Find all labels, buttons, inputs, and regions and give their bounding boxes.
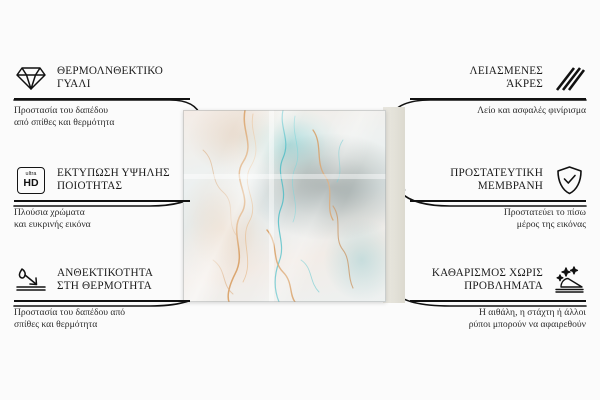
feature-title-line: ΠΡΟΣΤΑΤΕΥΤΙΚΗ: [450, 167, 543, 181]
infographic-canvas: ΘΕΡΜΟΛΝΘΕΚΤΙΚΟ ΓΥΑΛΙ Προστασία του δαπέδ…: [0, 0, 600, 400]
product-image: [183, 110, 398, 302]
feature-title-line: ΛΕΙΑΣΜΕΝΕΣ: [470, 65, 543, 79]
easy-cleaning-sparkle-icon: [552, 265, 586, 295]
feature-easy-cleaning: ΚΑΘΑΡΙΣΜΟΣ ΧΩΡΙΣ ΠΡΟΒΛΗΜΑΤΑ Η αιθάλη, η …: [410, 264, 586, 331]
feature-title-line: ΘΕΡΜΟΛΝΘΕΚΤΙΚΟ: [57, 65, 163, 79]
feature-description-line: Προστατεύει το πίσω: [410, 207, 586, 219]
product-side-face: [383, 107, 405, 303]
feature-description-line: Λείο και ασφαλές φινίρισμα: [410, 105, 586, 117]
ultra-hd-badge-icon: ultra HD: [14, 165, 48, 195]
feature-description-line: Προστασία του δαπέδου: [14, 105, 190, 117]
feature-title-line: ΓΥΑΛΙ: [57, 78, 163, 92]
feature-header: ΚΑΘΑΡΙΣΜΟΣ ΧΩΡΙΣ ΠΡΟΒΛΗΜΑΤΑ: [410, 264, 586, 296]
feature-title-line: ΠΡΟΒΛΗΜΑΤΑ: [432, 280, 543, 294]
flame-heat-resistance-icon: [14, 265, 48, 295]
feature-description-line: Πλούσια χρώματα: [14, 207, 190, 219]
feature-description-line: και ευκρινής εικόνα: [14, 219, 190, 231]
feature-title-line: ΠΟΙΟΤΗΤΑΣ: [57, 180, 170, 194]
feature-title: ΘΕΡΜΟΛΝΘΕΚΤΙΚΟ ΓΥΑΛΙ: [57, 65, 163, 92]
feature-header: ΠΡΟΣΤΑΤΕΥΤΙΚΗ ΜΕΜΒΡΑΝΗ: [410, 164, 586, 196]
feature-heat-durability: ΑΝΘΕΚΤΙΚΟΤΗΤΑ ΣΤΗ ΘΕΡΜΟΤΗΤΑ Προστασία το…: [14, 264, 190, 331]
feature-divider: [410, 200, 586, 202]
feature-description: Προστατεύει το πίσω μέρος της εικόνας: [410, 207, 586, 231]
feature-high-quality-print: ultra HD ΕΚΤΥΠΩΣΗ ΥΨΗΛΗΣ ΠΟΙΟΤΗΤΑΣ Πλούσ…: [14, 164, 190, 231]
feature-title: ΛΕΙΑΣΜΕΝΕΣ ΆΚΡΕΣ: [470, 65, 543, 92]
feature-divider: [14, 98, 190, 100]
feature-description-line: από σπίθες και θερμότητα: [14, 117, 190, 129]
feature-description-line: ρύποι μπορούν να αφαιρεθούν: [410, 319, 586, 331]
feature-protective-membrane: ΠΡΟΣΤΑΤΕΥΤΙΚΗ ΜΕΜΒΡΑΝΗ Προστατεύει το πί…: [410, 164, 586, 231]
feature-title-line: ΜΕΜΒΡΑΝΗ: [450, 180, 543, 194]
feature-description-line: Η αιθάλη, η στάχτη ή άλλοι: [410, 307, 586, 319]
feature-header: ΑΝΘΕΚΤΙΚΟΤΗΤΑ ΣΤΗ ΘΕΡΜΟΤΗΤΑ: [14, 264, 190, 296]
feature-header: ΛΕΙΑΣΜΕΝΕΣ ΆΚΡΕΣ: [410, 62, 586, 94]
feature-divider: [410, 98, 586, 100]
feature-description: Προστασία του δαπέδου από σπίθες και θερ…: [14, 105, 190, 129]
feature-title-line: ΆΚΡΕΣ: [470, 78, 543, 92]
feature-title: ΕΚΤΥΠΩΣΗ ΥΨΗΛΗΣ ΠΟΙΟΤΗΤΑΣ: [57, 167, 170, 194]
feature-heat-resistant-glass: ΘΕΡΜΟΛΝΘΕΚΤΙΚΟ ΓΥΑΛΙ Προστασία του δαπέδ…: [14, 62, 190, 129]
feature-divider: [14, 300, 190, 302]
feature-description: Λείο και ασφαλές φινίρισμα: [410, 105, 586, 117]
feature-description: Προστασία του δαπέδου από σπίθες και θερ…: [14, 307, 190, 331]
feature-title-line: ΕΚΤΥΠΩΣΗ ΥΨΗΛΗΣ: [57, 167, 170, 181]
feature-description-line: σπίθες και θερμότητα: [14, 319, 190, 331]
feature-description-line: μέρος της εικόνας: [410, 219, 586, 231]
feature-title-line: ΚΑΘΑΡΙΣΜΟΣ ΧΩΡΙΣ: [432, 267, 543, 281]
feature-divider: [14, 200, 190, 202]
polished-edges-icon: [552, 63, 586, 93]
feature-header: ΘΕΡΜΟΛΝΘΕΚΤΙΚΟ ΓΥΑΛΙ: [14, 62, 190, 94]
panel-edge: [183, 110, 386, 302]
feature-polished-edges: ΛΕΙΑΣΜΕΝΕΣ ΆΚΡΕΣ Λείο και ασφαλές φινίρι…: [410, 62, 586, 117]
badge-hd-label: HD: [23, 178, 38, 189]
product-front-face: [183, 110, 386, 302]
diamond-icon: [14, 63, 48, 93]
feature-title-line: ΣΤΗ ΘΕΡΜΟΤΗΤΑ: [57, 280, 153, 294]
feature-header: ultra HD ΕΚΤΥΠΩΣΗ ΥΨΗΛΗΣ ΠΟΙΟΤΗΤΑΣ: [14, 164, 190, 196]
feature-title-line: ΑΝΘΕΚΤΙΚΟΤΗΤΑ: [57, 267, 153, 281]
feature-divider: [410, 300, 586, 302]
feature-description: Η αιθάλη, η στάχτη ή άλλοι ρύποι μπορούν…: [410, 307, 586, 331]
feature-title: ΠΡΟΣΤΑΤΕΥΤΙΚΗ ΜΕΜΒΡΑΝΗ: [450, 167, 543, 194]
feature-description-line: Προστασία του δαπέδου από: [14, 307, 190, 319]
shield-check-icon: [552, 165, 586, 195]
feature-description: Πλούσια χρώματα και ευκρινής εικόνα: [14, 207, 190, 231]
feature-title: ΚΑΘΑΡΙΣΜΟΣ ΧΩΡΙΣ ΠΡΟΒΛΗΜΑΤΑ: [432, 267, 543, 294]
feature-title: ΑΝΘΕΚΤΙΚΟΤΗΤΑ ΣΤΗ ΘΕΡΜΟΤΗΤΑ: [57, 267, 153, 294]
